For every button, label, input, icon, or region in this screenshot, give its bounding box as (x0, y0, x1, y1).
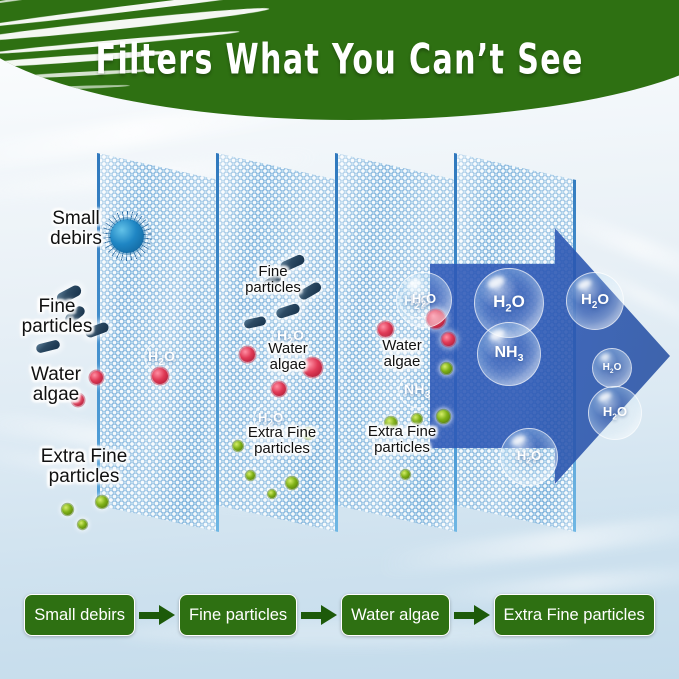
bubble-h2o: H2O (588, 386, 642, 440)
callout-line-2: particles (20, 467, 148, 487)
callout-line-2: algae (362, 354, 442, 370)
extra-fine-particle (96, 496, 108, 508)
page-title-text: Filters What You Can’t See (95, 36, 583, 84)
callout-line-1: Extra Fine (350, 424, 454, 440)
panel-edge-left (216, 150, 219, 532)
flow-step-small-debris[interactable]: Small debirs (24, 594, 135, 636)
water-algae-particle (272, 382, 286, 396)
arrow-head (321, 605, 337, 625)
callout-water-algae-2: Water algae (248, 341, 328, 373)
callout-line-1: Fine (228, 264, 318, 280)
bubble-highlight (488, 327, 507, 343)
bubble-label: H2O (493, 292, 525, 314)
extra-fine-particle (437, 410, 450, 423)
infographic-canvas: Filters What You Can’t See H2O (0, 0, 679, 679)
callout-line-1: Water (362, 338, 442, 354)
water-algae-particle (378, 322, 393, 337)
extra-fine-particle (246, 471, 255, 480)
callout-water-algae: Water algae (6, 365, 106, 405)
callout-line-1: Extra Fine (230, 425, 334, 441)
callout-line-2: particles (5, 317, 109, 337)
flow-arrow-icon (297, 604, 341, 626)
bubble-label: H2O (412, 291, 436, 309)
extra-fine-particle (401, 470, 410, 479)
callout-line-2: particles (228, 280, 318, 296)
bubble-label: H2O (517, 448, 541, 466)
callout-line-1: Extra Fine (20, 447, 148, 467)
bubble-highlight (406, 277, 422, 291)
bubble-h2o: H2O (592, 348, 632, 388)
bubble-h2o: H2O (396, 272, 452, 328)
bubble-h2o: H2O (500, 428, 558, 486)
callout-small-debris: Small debirs (26, 209, 126, 249)
flow-arrow-icon (135, 604, 179, 626)
extra-fine-particle (78, 520, 87, 529)
water-algae-particle (442, 333, 455, 346)
bubble-label: H2O (603, 362, 622, 375)
water-algae-particle (152, 368, 168, 384)
bubble-label: NH3 (495, 344, 524, 364)
callout-line-1: Small (26, 209, 126, 229)
flow-arrow-icon (450, 604, 494, 626)
callout-extra-fine-particles: Extra Fine particles (20, 447, 148, 487)
callout-line-2: particles (350, 440, 454, 456)
extra-fine-particle (286, 477, 298, 489)
callout-fine-particles-2: Fine particles (228, 264, 318, 296)
bubble-highlight (599, 352, 611, 362)
flow-step-fine-particles[interactable]: Fine particles (179, 594, 297, 636)
page-title: Filters What You Can’t See (0, 0, 679, 120)
callout-line-2: algae (248, 357, 328, 373)
callout-extra-fine-particles-3: Extra Fine particles (350, 424, 454, 456)
callout-line-2: particles (230, 441, 334, 457)
callout-line-1: Water (6, 365, 106, 385)
bubble-highlight (510, 433, 527, 447)
arrow-head (159, 605, 175, 625)
arrow-head (474, 605, 490, 625)
callout-extra-fine-particles-2: Extra Fine particles (230, 425, 334, 457)
bubble-highlight (576, 277, 593, 291)
panel-edge-left (335, 150, 338, 532)
extra-fine-particle (62, 504, 73, 515)
callout-line-1: Water (248, 341, 328, 357)
extra-fine-particle (268, 490, 276, 498)
flow-step-water-algae[interactable]: Water algae (341, 594, 449, 636)
filtration-flow-row: Small debirs Fine particles Water algae … (0, 592, 679, 638)
extra-fine-particle (441, 363, 452, 374)
callout-fine-particles: Fine particles (5, 297, 109, 337)
bubble-h2o: H2O (566, 272, 624, 330)
bubble-nh3: NH3 (477, 322, 541, 386)
callout-line-2: algae (6, 385, 106, 405)
bubble-highlight (486, 274, 507, 291)
bubble-label: H2O (603, 404, 627, 422)
callout-water-algae-3: Water algae (362, 338, 442, 370)
callout-line-1: Fine (5, 297, 109, 317)
callout-line-2: debirs (26, 229, 126, 249)
bubble-highlight (597, 391, 613, 404)
bubble-label: H2O (581, 291, 609, 311)
flow-step-extra-fine-particles[interactable]: Extra Fine particles (494, 594, 655, 636)
